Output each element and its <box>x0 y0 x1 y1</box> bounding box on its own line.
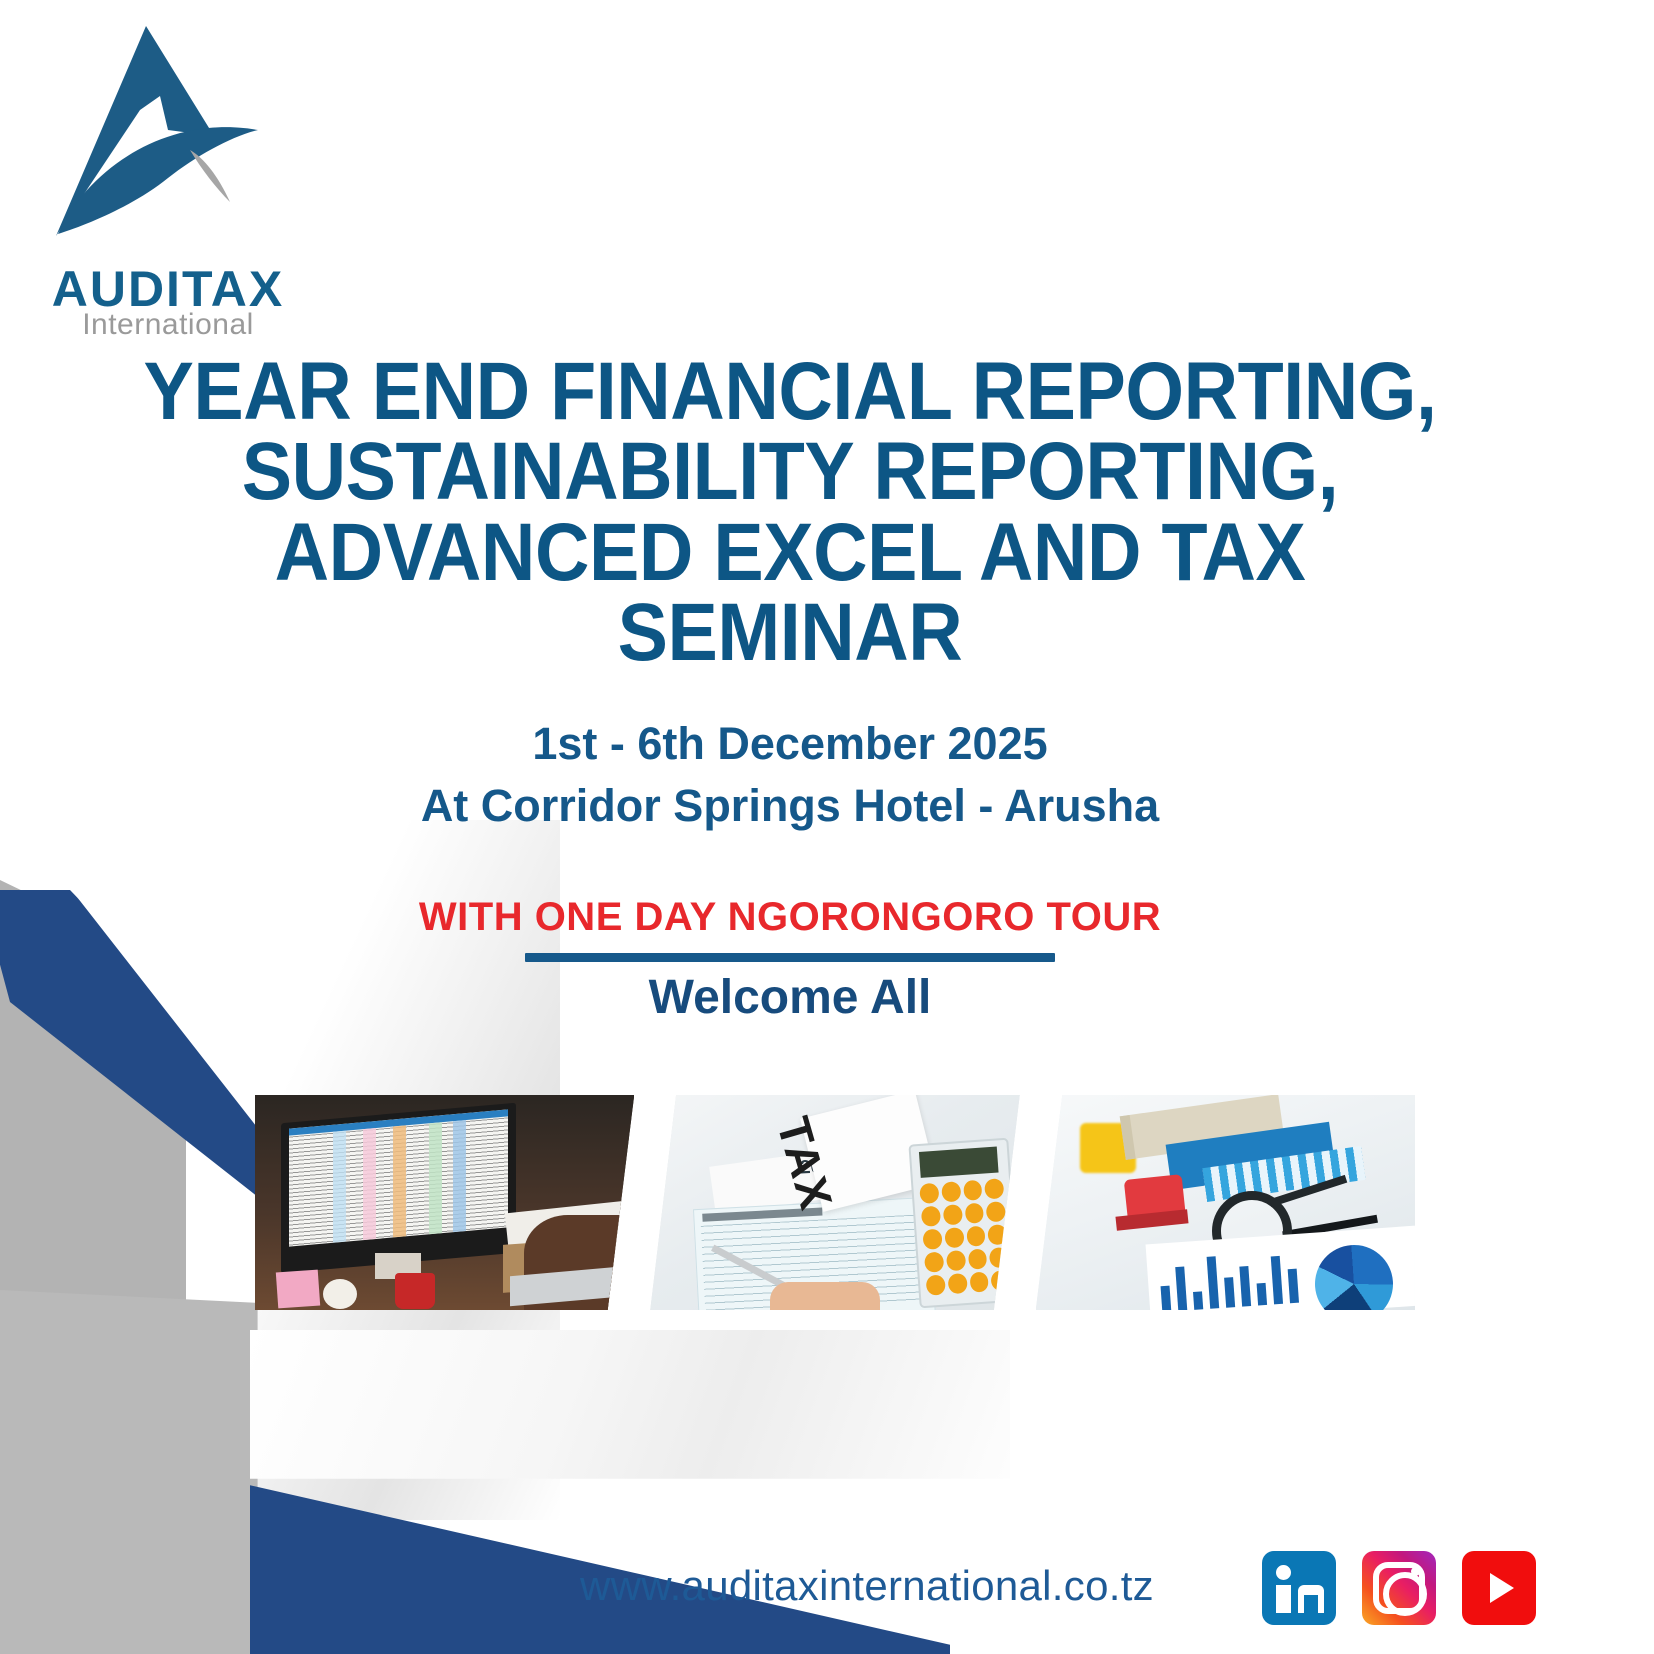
spreadsheet-desk-photo <box>255 1095 634 1310</box>
auditax-arrow-logo-icon <box>18 18 308 268</box>
poster-canvas: AUDITAX International YEAR END FINANCIAL… <box>0 0 1654 1654</box>
youtube-icon[interactable] <box>1462 1551 1536 1625</box>
event-date: 1st - 6th December 2025 <box>80 717 1500 771</box>
photo-strip: 20 TAX <box>255 1095 1415 1310</box>
charts-stationery-photo <box>1036 1095 1415 1310</box>
divider-rule <box>525 953 1055 962</box>
page-title: YEAR END FINANCIAL REPORTING, SUSTAINABI… <box>137 352 1443 673</box>
linkedin-icon[interactable] <box>1262 1551 1336 1625</box>
website-url[interactable]: www.auditaxinternational.co.tz <box>580 1562 1280 1610</box>
welcome-message: Welcome All <box>80 972 1500 1025</box>
logo-wordmark: AUDITAX <box>28 264 308 314</box>
tour-banner: WITH ONE DAY NGORONGORO TOUR <box>80 895 1500 939</box>
social-links <box>1262 1551 1536 1625</box>
event-venue: At Corridor Springs Hotel - Arusha <box>80 779 1500 833</box>
gray-block-bottom-left <box>0 1290 290 1654</box>
auditax-logo: AUDITAX International <box>18 18 308 348</box>
logo-subtitle: International <box>28 310 308 340</box>
instagram-icon[interactable] <box>1362 1551 1436 1625</box>
white-fold-bottom <box>250 1330 1010 1570</box>
headline-block: YEAR END FINANCIAL REPORTING, SUSTAINABI… <box>80 352 1500 1025</box>
tax-forms-calculator-photo: 20 TAX <box>650 1095 1020 1310</box>
